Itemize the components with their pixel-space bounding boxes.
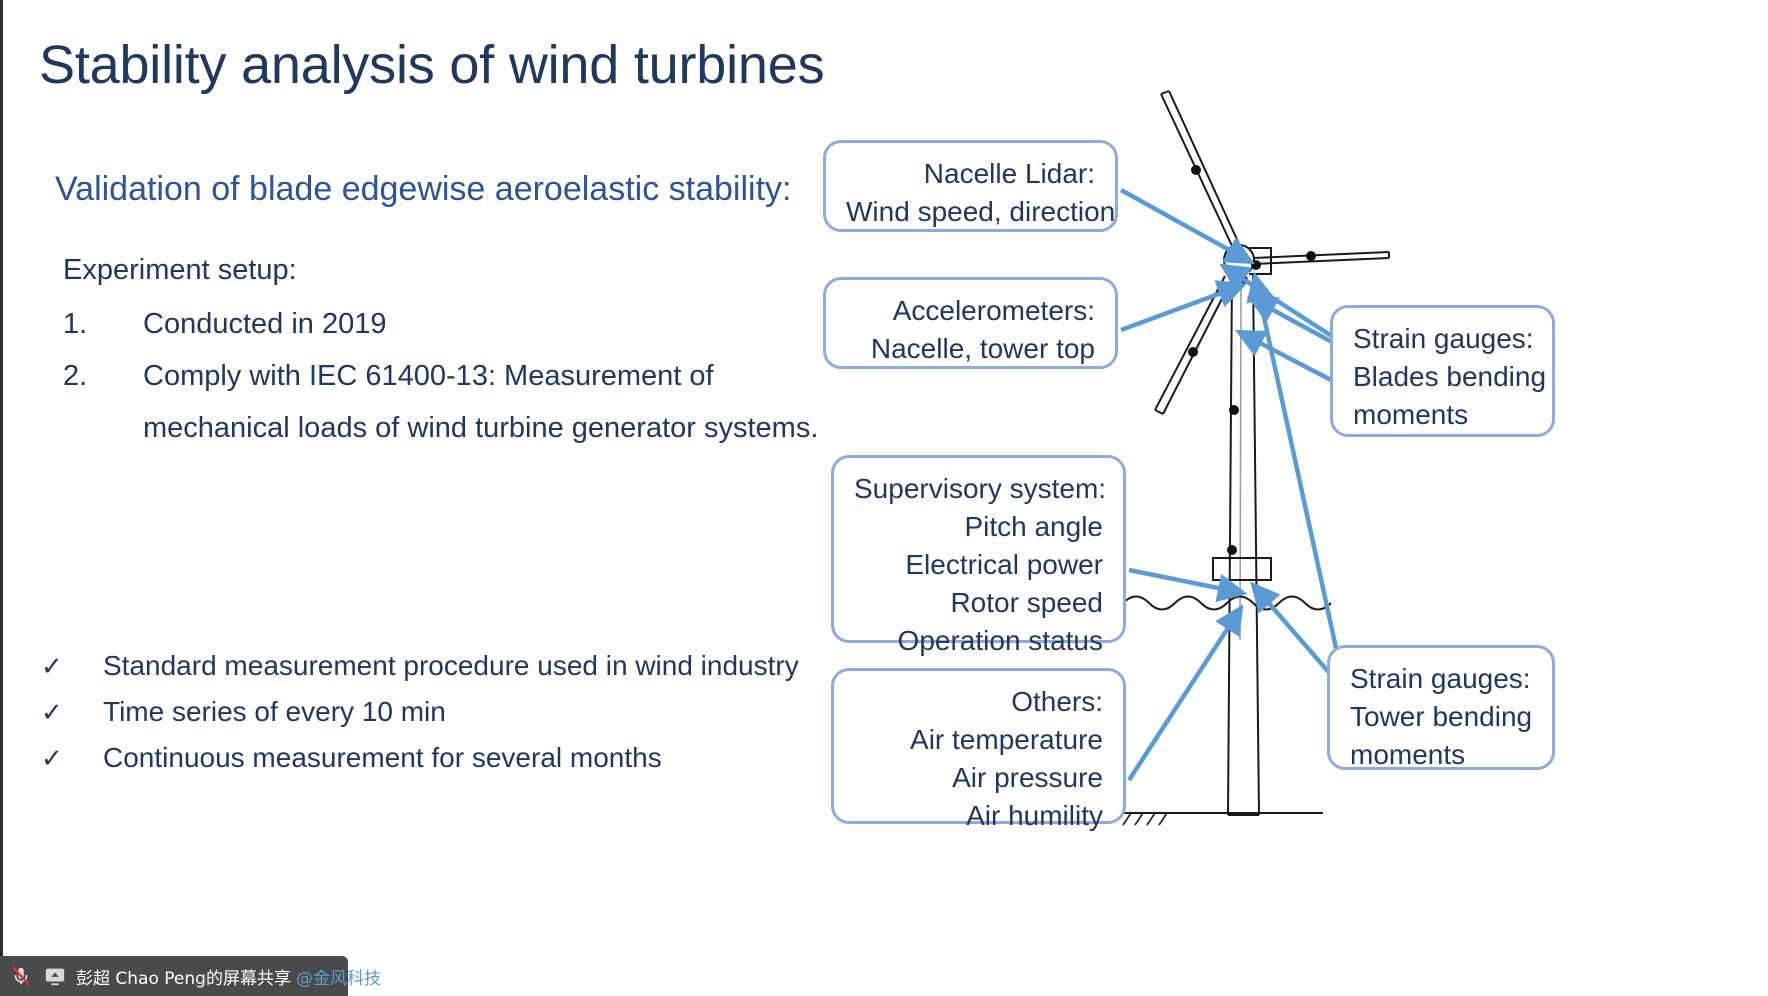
list-item: 2. Comply with IEC 61400-13: Measurement…	[63, 350, 823, 454]
checkmark-list: ✓ Standard measurement procedure used in…	[41, 645, 831, 783]
list-item: ✓ Time series of every 10 min	[41, 691, 831, 733]
list-item: ✓ Continuous measurement for several mon…	[41, 737, 831, 779]
list-item-text: Standard measurement procedure used in w…	[103, 645, 831, 687]
list-item: ✓ Standard measurement procedure used in…	[41, 645, 831, 687]
callout-line: Electrical power	[854, 546, 1103, 584]
check-icon: ✓	[41, 645, 103, 687]
callout-line: Rotor speed	[854, 584, 1103, 622]
callout-supervisory-system[interactable]: Supervisory system: Pitch angle Electric…	[831, 455, 1126, 643]
callout-line: Accelerometers:	[846, 292, 1095, 330]
list-item-text: Conducted in 2019	[143, 298, 823, 350]
slide-canvas: Stability analysis of wind turbines Vali…	[0, 0, 1768, 968]
callout-line: Wind speed, direction	[846, 193, 1095, 231]
microphone-muted-icon[interactable]	[8, 963, 34, 989]
callout-line: Air humility	[854, 797, 1103, 835]
list-item: 1. Conducted in 2019	[63, 298, 823, 350]
callout-line: Strain gauges:	[1350, 660, 1532, 698]
callout-line: Nacelle, tower top	[846, 330, 1095, 368]
experiment-setup-heading: Experiment setup:	[63, 250, 823, 290]
callout-line: Pitch angle	[854, 508, 1103, 546]
callout-tower-strain-gauges[interactable]: Strain gauges: Tower bending moments	[1327, 645, 1555, 770]
left-content-column: Experiment setup: 1. Conducted in 2019 2…	[63, 250, 823, 454]
list-item-text: Comply with IEC 61400-13: Measurement of…	[143, 350, 823, 454]
share-handle-text: @金风科技	[296, 964, 381, 989]
callout-line: Others:	[854, 683, 1103, 721]
page-title: Stability analysis of wind turbines	[39, 33, 824, 97]
list-item-text: Continuous measurement for several month…	[103, 737, 831, 779]
list-item-marker: 2.	[63, 350, 143, 402]
callout-line: moments	[1350, 736, 1532, 774]
share-status-text: 彭超 Chao Peng的屏幕共享	[76, 964, 291, 989]
callout-accelerometers[interactable]: Accelerometers: Nacelle, tower top	[823, 277, 1118, 369]
check-icon: ✓	[41, 691, 103, 733]
callout-others[interactable]: Others: Air temperature Air pressure Air…	[831, 668, 1126, 824]
callout-line: Operation status	[854, 622, 1103, 660]
callout-line: Supervisory system:	[854, 470, 1103, 508]
numbered-list: 1. Conducted in 2019 2. Comply with IEC …	[63, 298, 823, 454]
callout-line: moments	[1353, 396, 1532, 434]
callout-line: Blades bending	[1353, 358, 1532, 396]
screen-share-icon[interactable]	[42, 963, 68, 989]
callout-line: Nacelle Lidar:	[846, 155, 1095, 193]
callout-line: Strain gauges:	[1353, 320, 1532, 358]
callout-nacelle-lidar[interactable]: Nacelle Lidar: Wind speed, direction	[823, 140, 1118, 232]
sensor-dots	[1188, 165, 1316, 555]
callout-blades-strain-gauges[interactable]: Strain gauges: Blades bending moments	[1330, 305, 1555, 437]
callout-line: Air pressure	[854, 759, 1103, 797]
list-item-text: Time series of every 10 min	[103, 691, 831, 733]
callout-line: Air temperature	[854, 721, 1103, 759]
screen-share-taskbar[interactable]: 彭超 Chao Peng的屏幕共享 @金风科技	[0, 956, 348, 996]
slide-subtitle: Validation of blade edgewise aeroelastic…	[55, 168, 791, 210]
callout-line: Tower bending	[1350, 698, 1532, 736]
list-item-marker: 1.	[63, 298, 143, 350]
check-icon: ✓	[41, 737, 103, 779]
